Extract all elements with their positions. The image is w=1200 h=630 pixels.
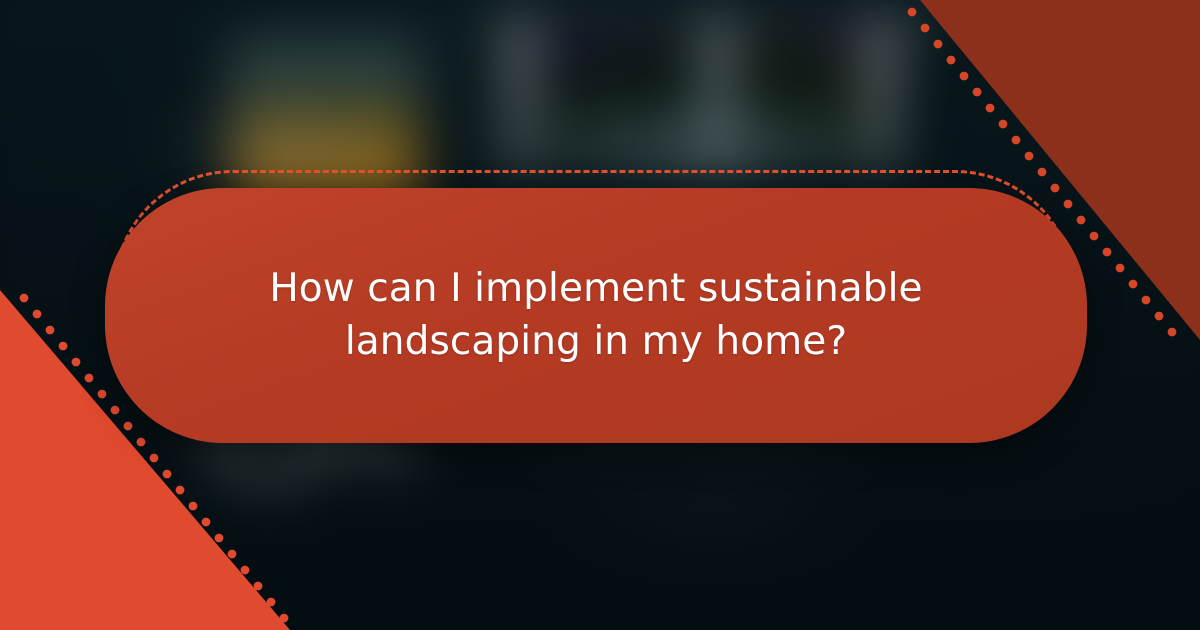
question-card-zone: How can I implement sustainable landscap… xyxy=(95,170,1105,455)
question-card[interactable]: How can I implement sustainable landscap… xyxy=(105,188,1087,443)
question-text: How can I implement sustainable landscap… xyxy=(166,263,1026,368)
screenshot-canvas: How can I implement sustainable landscap… xyxy=(0,0,1200,630)
